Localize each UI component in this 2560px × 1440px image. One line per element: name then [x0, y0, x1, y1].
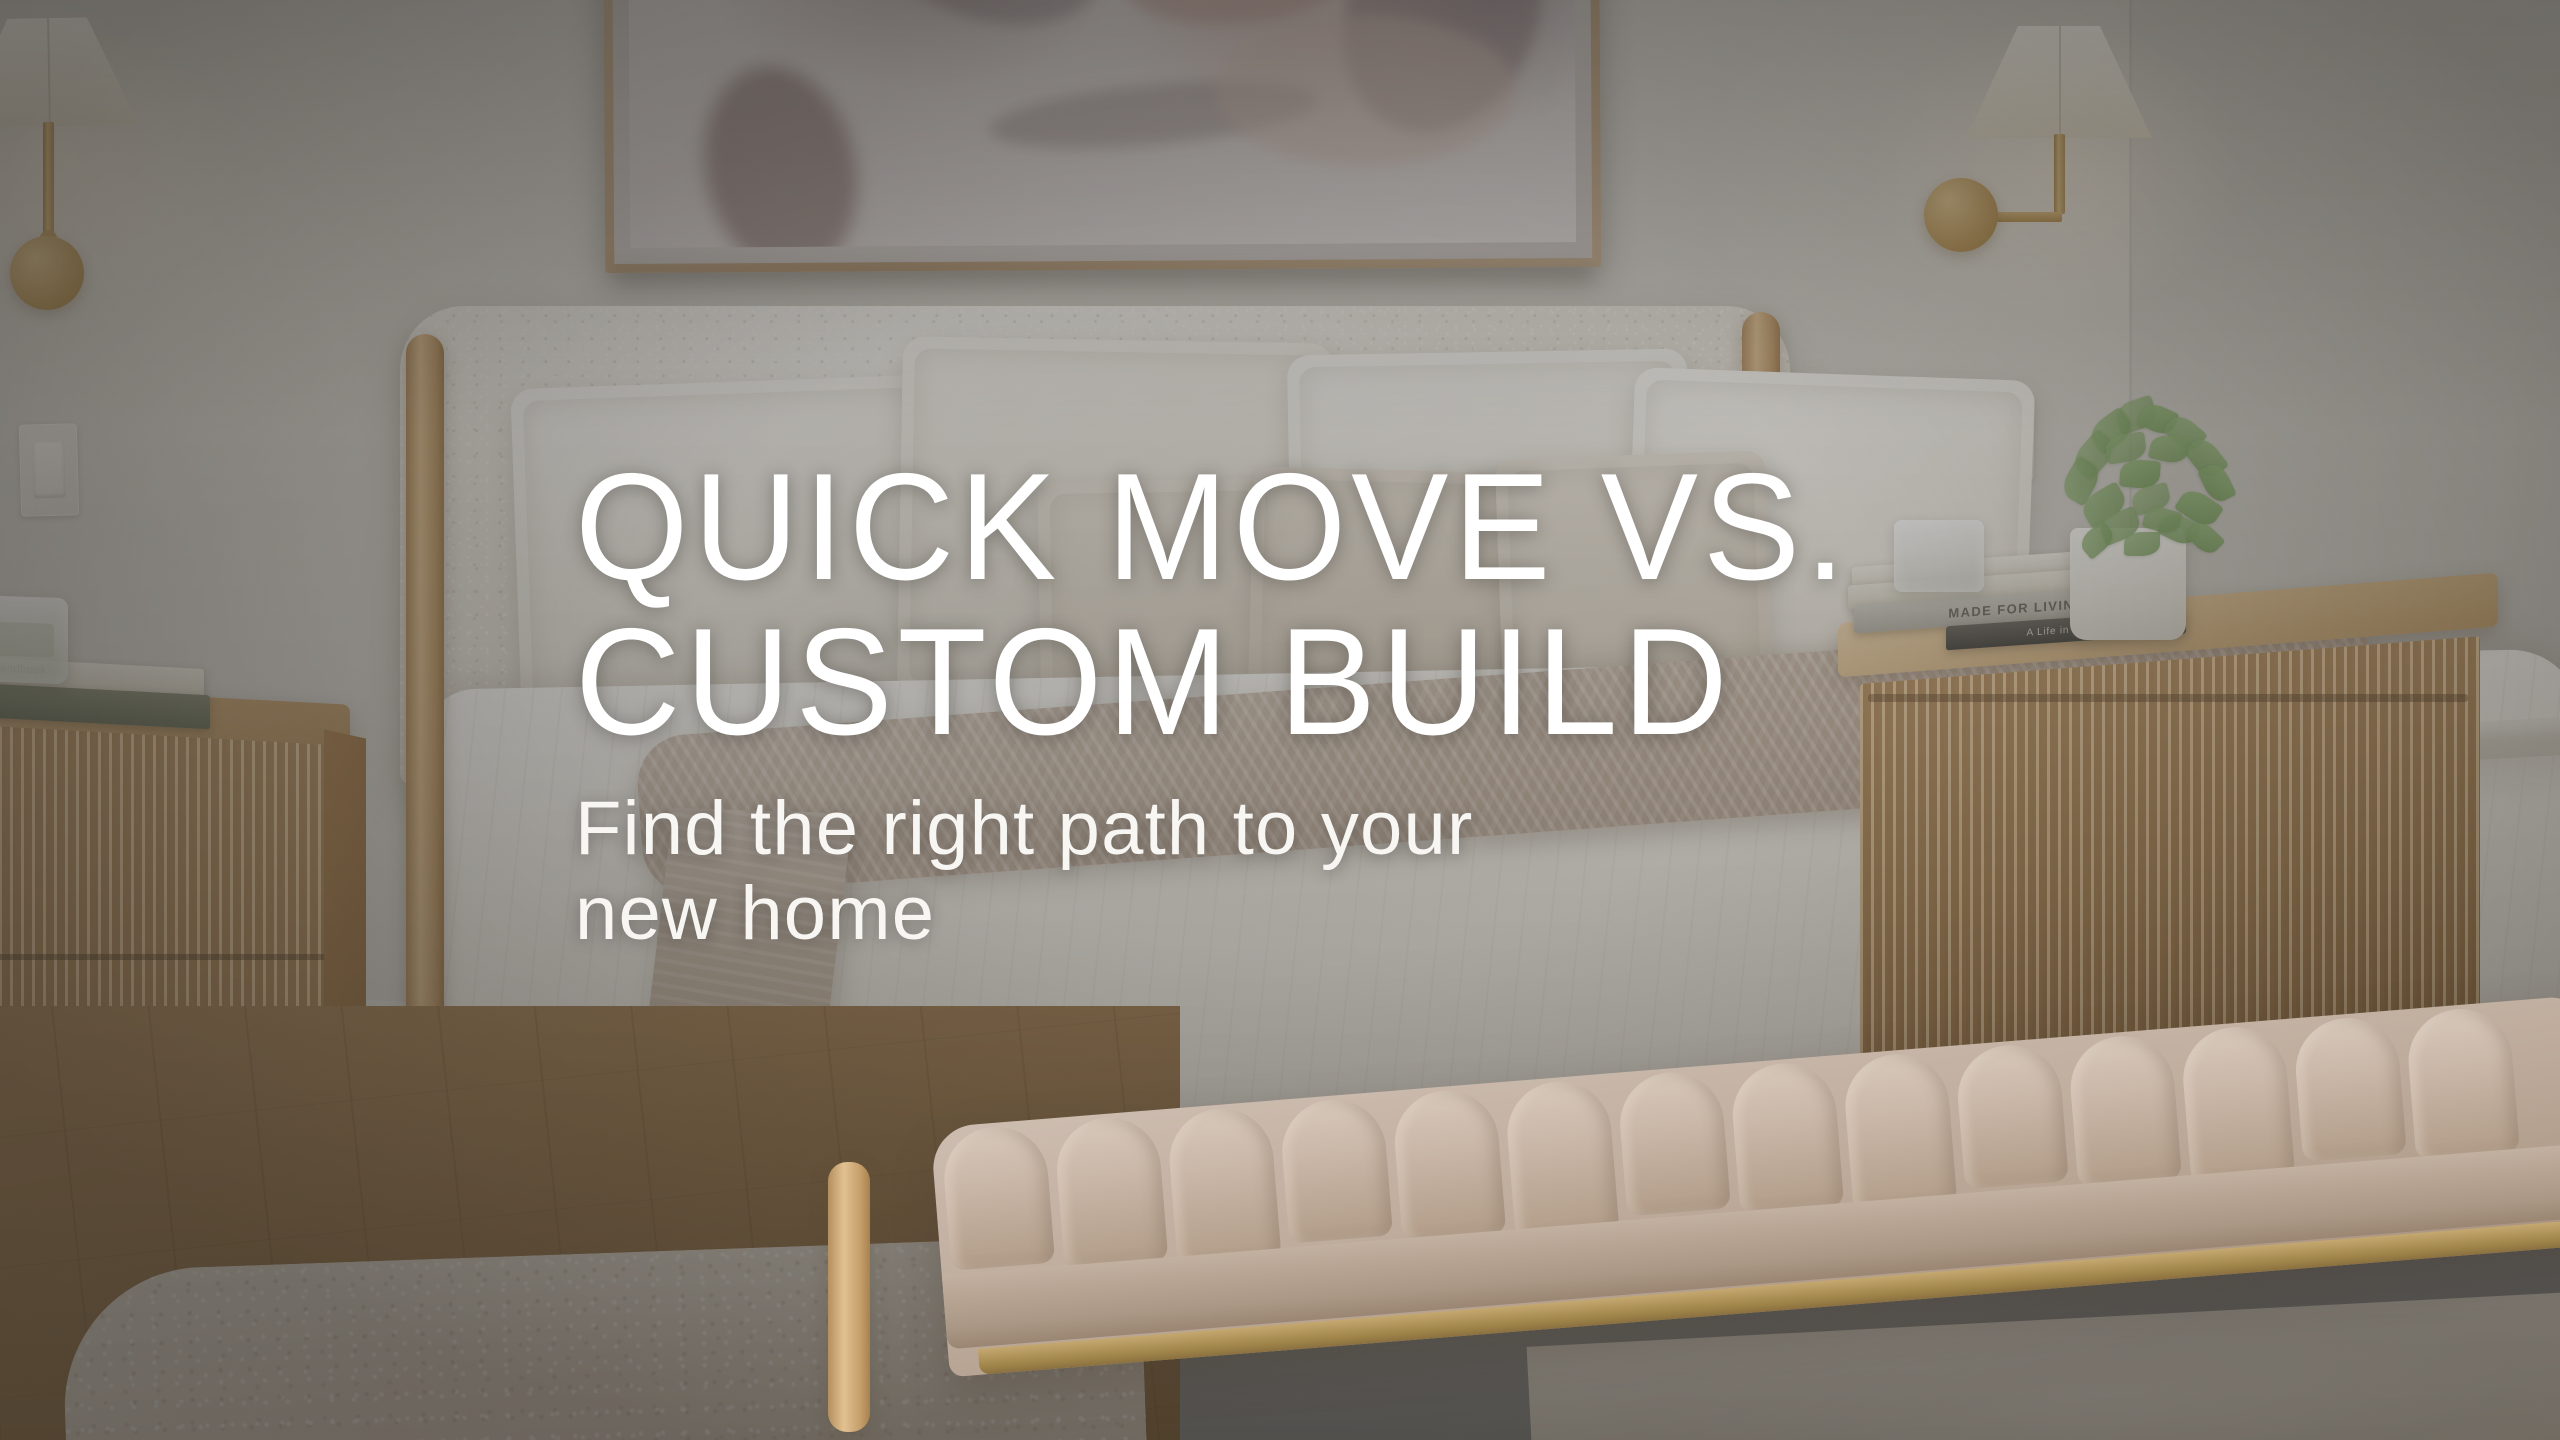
bench-channel: [1841, 1050, 1957, 1212]
sconce-stem: [43, 122, 54, 242]
bench-channel: [1616, 1068, 1731, 1216]
bench-channel: [2067, 1032, 2182, 1187]
light-switch-left[interactable]: [19, 423, 79, 516]
hero-banner: The Furniture Handbook MOUNTAIN HOUSE MA…: [0, 0, 2560, 1440]
bench-channel: [2292, 1014, 2407, 1162]
hero-subheadline: Find the right path to your new home: [575, 786, 2275, 956]
bench-channel: [2405, 1005, 2520, 1160]
sconce-backplate: [1924, 178, 1998, 252]
bench-channel: [1053, 1114, 1168, 1269]
artwork-mat: [612, 0, 1592, 264]
bench-channel: [1391, 1087, 1506, 1242]
brushstroke: [860, 0, 1119, 49]
lamp-shade-icon: [0, 16, 139, 127]
hero-headline: QUICK MOVE VS. CUSTOM BUILD: [575, 450, 2207, 760]
hero-text-block: QUICK MOVE VS. CUSTOM BUILD Find the rig…: [575, 450, 2275, 956]
bench-channel: [1166, 1105, 1282, 1267]
brushstroke: [685, 51, 876, 248]
lamp-shade-icon: [1966, 26, 2152, 138]
candle-jar-left: [0, 594, 68, 684]
shade-seam: [47, 18, 51, 126]
sconce-backplate: [10, 236, 84, 310]
framed-artwork: [603, 0, 1602, 273]
bench-channel: [1503, 1078, 1619, 1240]
artwork-shadow: [614, 266, 1594, 288]
bench-channel: [1954, 1041, 2069, 1189]
artwork-canvas: [628, 0, 1576, 248]
bench-channel: [1278, 1096, 1393, 1244]
wall-sconce-left: [0, 18, 138, 126]
bed-post-foot: [828, 1162, 870, 1432]
brushstroke: [1215, 14, 1516, 166]
bench-channel: [2179, 1023, 2295, 1185]
bench-channel: [940, 1123, 1055, 1271]
wall-sconce-right: [1966, 26, 2152, 138]
drawer-seam: [0, 954, 326, 960]
shade-seam: [2059, 26, 2061, 134]
bench-channel: [1729, 1059, 1844, 1214]
switch-rocker[interactable]: [32, 442, 65, 499]
sconce-stem: [2054, 134, 2065, 214]
